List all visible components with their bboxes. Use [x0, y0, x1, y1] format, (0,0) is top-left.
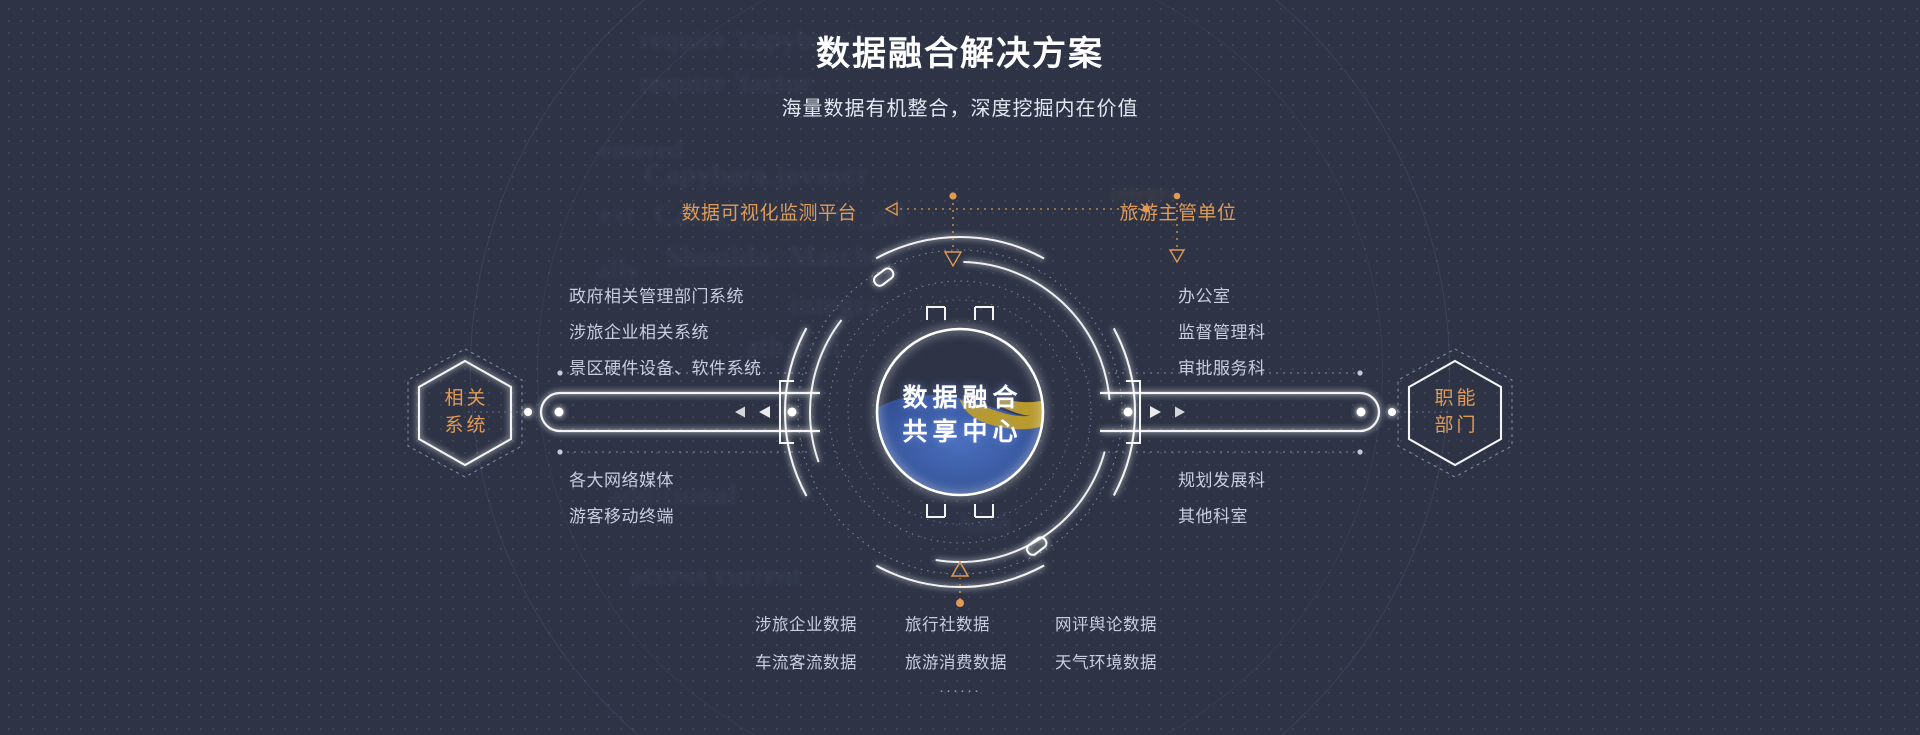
page-header: 数据融合解决方案 海量数据有机整合，深度挖掘内在价值 [0, 34, 1920, 121]
hub-fill-wave [877, 395, 1045, 500]
infographic-canvas: require 'capybara' require 'factor Capyb… [0, 0, 1920, 735]
bottom-flow-marker [952, 562, 968, 607]
page-title: 数据融合解决方案 [0, 34, 1920, 75]
hub-core [877, 329, 1045, 500]
page-subtitle: 海量数据有机整合，深度挖掘内在价值 [0, 92, 1920, 121]
